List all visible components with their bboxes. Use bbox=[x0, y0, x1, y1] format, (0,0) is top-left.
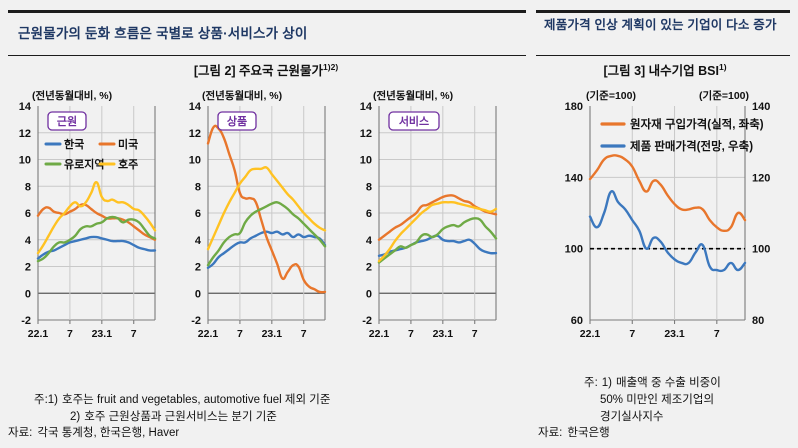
y-axis-tick: 14 bbox=[19, 101, 32, 113]
chart-panel-services: (전년동월대비, %)-20246810121422.1723.17서비스 bbox=[360, 89, 496, 340]
y-axis-tick: 12 bbox=[19, 128, 31, 140]
y-axis-left-tick: 100 bbox=[565, 244, 583, 256]
chart-panel-bsi: (기준=100)(기준=100)601001401808010012014022… bbox=[565, 89, 771, 340]
y-axis-right-tick: 120 bbox=[752, 172, 770, 184]
x-axis-tick: 23.1 bbox=[92, 328, 113, 340]
x-axis-tick: 7 bbox=[714, 328, 720, 340]
x-axis-tick: 23.1 bbox=[262, 328, 283, 340]
left-charts: (전년동월대비, %)-20246810121422.1723.17근원한국미국… bbox=[0, 84, 532, 362]
right-panel: 제품가격 인상 계획이 있는 기업이 다소 증가 [그림 3] 내수기업 BSI… bbox=[532, 0, 798, 448]
y-axis-tick: 2 bbox=[25, 262, 31, 274]
y-axis-left-tick: 60 bbox=[571, 315, 583, 327]
right-figure-caption: [그림 3] 내수기업 BSI1) bbox=[532, 60, 798, 79]
panel-tag-label: 근원 bbox=[57, 114, 77, 128]
y-axis-left-tick: 140 bbox=[565, 172, 583, 184]
right-charts: (기준=100)(기준=100)601001401808010012014022… bbox=[532, 84, 798, 362]
x-axis-tick: 7 bbox=[237, 328, 243, 340]
footnote-row: 50% 미만인 제조기업의 bbox=[538, 392, 794, 409]
x-axis-tick: 7 bbox=[629, 328, 635, 340]
right-footnotes: 주: 1) 매출액 중 수출 비중이 50% 미만인 제조기업의 경기실사지수 … bbox=[538, 375, 794, 442]
footnote-row: 경기실사지수 bbox=[538, 409, 794, 426]
x-axis-tick: 22.1 bbox=[369, 328, 390, 340]
footnote-text: 한국은행 bbox=[562, 425, 609, 442]
x-axis-tick: 7 bbox=[472, 328, 478, 340]
footnote-row: 주: 1) 매출액 중 수출 비중이 bbox=[538, 375, 794, 392]
footnote-label: 자료: bbox=[538, 425, 562, 442]
footnote-label bbox=[8, 409, 70, 426]
x-axis-tick: 7 bbox=[131, 328, 137, 340]
y-axis-tick: 6 bbox=[195, 208, 201, 220]
core-inflation-charts: (전년동월대비, %)-20246810121422.1723.17근원한국미국… bbox=[0, 84, 532, 362]
y-axis-tick: 14 bbox=[189, 101, 202, 113]
y-axis-left-tick: 180 bbox=[565, 101, 583, 113]
y-axis-right-tick: 100 bbox=[752, 244, 770, 256]
right-figure-caption-superscript: 1) bbox=[719, 62, 727, 72]
legend-label-원자재 구입가격(실적, 좌축): 원자재 구입가격(실적, 좌축) bbox=[630, 117, 764, 131]
unit-label-right: (기준=100) bbox=[699, 89, 749, 102]
y-axis-tick: 2 bbox=[366, 262, 372, 274]
y-axis-tick: 8 bbox=[366, 181, 372, 193]
legend-label-한국: 한국 bbox=[64, 137, 84, 151]
y-axis-tick: -2 bbox=[362, 315, 372, 327]
right-headline: 제품가격 인상 계획이 있는 기업이 다소 증가 bbox=[536, 13, 777, 34]
bsi-chart: (기준=100)(기준=100)601001401808010012014022… bbox=[532, 84, 798, 362]
y-axis-tick: 10 bbox=[19, 155, 31, 167]
left-headline: 근원물가의 둔화 흐름은 국별로 상품·서비스가 상이 bbox=[8, 25, 307, 43]
left-headline-band: 근원물가의 둔화 흐름은 국별로 상품·서비스가 상이 bbox=[8, 10, 526, 56]
y-axis-tick: 0 bbox=[366, 288, 372, 300]
x-axis-tick: 22.1 bbox=[198, 328, 219, 340]
y-axis-tick: -2 bbox=[191, 315, 201, 327]
x-axis-tick: 23.1 bbox=[664, 328, 685, 340]
legend-label-유로지역: 유로지역 bbox=[64, 157, 104, 171]
y-axis-tick: 2 bbox=[195, 262, 201, 274]
footnote-row: 2) 호주 근원상품과 근원서비스는 분기 기준 bbox=[8, 409, 532, 426]
y-axis-tick: 0 bbox=[195, 288, 201, 300]
right-headline-band: 제품가격 인상 계획이 있는 기업이 다소 증가 bbox=[536, 10, 790, 56]
y-axis-tick: 6 bbox=[25, 208, 31, 220]
footnote-marker: 2) bbox=[70, 409, 80, 426]
footnote-label: 주: bbox=[8, 392, 48, 409]
left-figure-caption-superscript: 1)2) bbox=[323, 62, 338, 72]
chart-panel-core: (전년동월대비, %)-20246810121422.1723.17근원한국미국… bbox=[19, 89, 155, 340]
unit-label: (전년동월대비, %) bbox=[32, 89, 112, 102]
y-axis-tick: 14 bbox=[360, 101, 373, 113]
y-axis-tick: 10 bbox=[189, 155, 201, 167]
x-axis-tick: 7 bbox=[67, 328, 73, 340]
unit-label: (전년동월대비, %) bbox=[202, 89, 282, 102]
footnote-text: 호주 근원상품과 근원서비스는 분기 기준 bbox=[80, 409, 277, 426]
left-figure-caption: [그림 2] 주요국 근원물가1)2) bbox=[0, 60, 532, 79]
y-axis-tick: 0 bbox=[25, 288, 31, 300]
x-axis-tick: 7 bbox=[408, 328, 414, 340]
y-axis-tick: 8 bbox=[195, 181, 201, 193]
y-axis-tick: 8 bbox=[25, 181, 31, 193]
left-figure-caption-text: [그림 2] 주요국 근원물가 bbox=[194, 64, 323, 78]
footnote-row: 주: 1) 호주는 fruit and vegetables, automoti… bbox=[8, 392, 532, 409]
report-page: 근원물가의 둔화 흐름은 국별로 상품·서비스가 상이 [그림 2] 주요국 근… bbox=[0, 0, 798, 448]
footnote-text: 매출액 중 수출 비중이 bbox=[612, 375, 721, 392]
y-axis-tick: 4 bbox=[25, 235, 32, 247]
left-panel: 근원물가의 둔화 흐름은 국별로 상품·서비스가 상이 [그림 2] 주요국 근… bbox=[0, 0, 532, 448]
y-axis-right-tick: 80 bbox=[752, 315, 764, 327]
chart-panel-goods: (전년동월대비, %)-20246810121422.1723.17상품 bbox=[189, 89, 325, 340]
footnote-label: 자료: bbox=[8, 425, 32, 442]
plot-background bbox=[590, 106, 745, 320]
right-figure-caption-text: [그림 3] 내수기업 BSI bbox=[603, 64, 719, 78]
legend-label-미국: 미국 bbox=[118, 137, 138, 151]
footnote-text: 50% 미만인 제조기업의 bbox=[538, 392, 714, 409]
panel-tag-label: 상품 bbox=[227, 114, 247, 128]
x-axis-tick: 22.1 bbox=[28, 328, 49, 340]
footnote-text: 호주는 fruit and vegetables, automotive fue… bbox=[58, 392, 330, 409]
unit-label-left: (기준=100) bbox=[586, 89, 636, 102]
legend-label-호주: 호주 bbox=[118, 157, 138, 171]
y-axis-tick: 4 bbox=[366, 235, 373, 247]
y-axis-tick: 10 bbox=[360, 155, 372, 167]
y-axis-tick: 6 bbox=[366, 208, 372, 220]
x-axis-tick: 23.1 bbox=[433, 328, 454, 340]
y-axis-tick: 4 bbox=[195, 235, 202, 247]
footnote-text: 경기실사지수 bbox=[538, 409, 663, 426]
footnote-marker: 1) bbox=[48, 392, 58, 409]
left-footnotes: 주: 1) 호주는 fruit and vegetables, automoti… bbox=[8, 392, 532, 442]
unit-label: (전년동월대비, %) bbox=[373, 89, 453, 102]
legend-label-제품 판매가격(전망, 우축): 제품 판매가격(전망, 우축) bbox=[630, 139, 753, 153]
panel-tag-label: 서비스 bbox=[399, 114, 429, 128]
y-axis-tick: -2 bbox=[21, 315, 31, 327]
footnote-row: 자료: 각국 통계청, 한국은행, Haver bbox=[8, 425, 532, 442]
y-axis-tick: 12 bbox=[189, 128, 201, 140]
footnote-row: 자료: 한국은행 bbox=[538, 425, 794, 442]
y-axis-tick: 12 bbox=[360, 128, 372, 140]
x-axis-tick: 7 bbox=[301, 328, 307, 340]
footnote-marker: 1) bbox=[598, 375, 612, 392]
footnote-label: 주: bbox=[538, 375, 598, 392]
y-axis-right-tick: 140 bbox=[752, 101, 770, 113]
footnote-text: 각국 통계청, 한국은행, Haver bbox=[32, 425, 179, 442]
x-axis-tick: 22.1 bbox=[580, 328, 601, 340]
